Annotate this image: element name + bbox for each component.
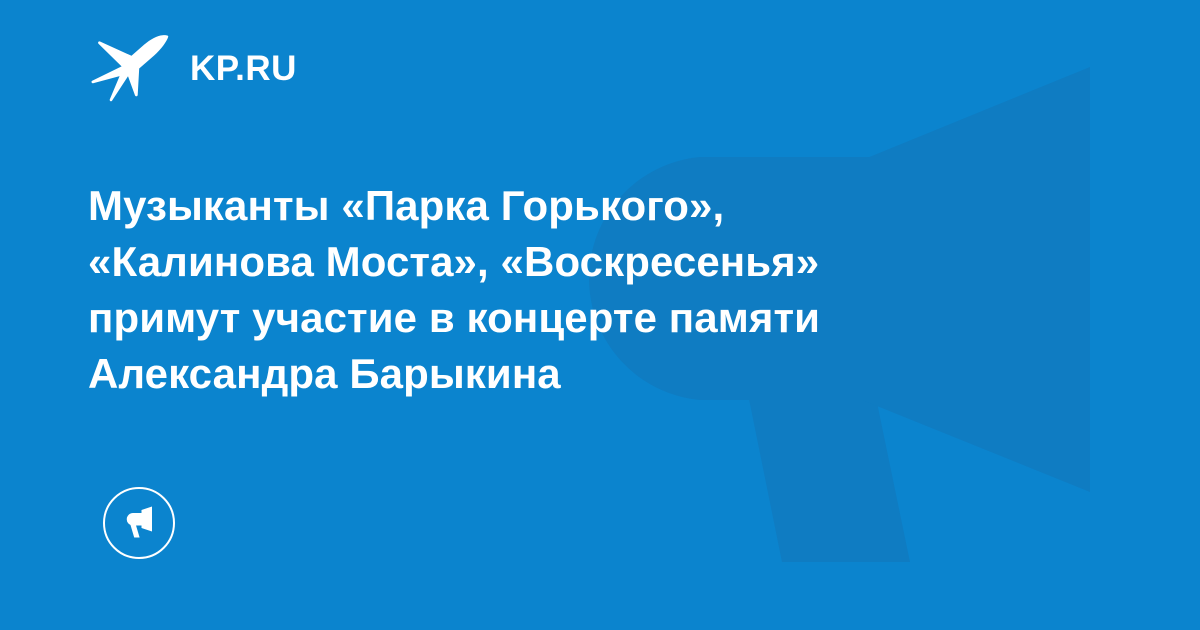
brand-logo[interactable]: KP.RU <box>88 32 297 104</box>
megaphone-icon <box>121 505 157 541</box>
social-share-card: KP.RU Музыканты «Парка Горького», «Калин… <box>0 0 1200 630</box>
headline-line-4: Александра Барыкина <box>88 346 988 402</box>
brand-name: KP.RU <box>190 51 297 86</box>
headline: Музыканты «Парка Горького», «Калинова Мо… <box>88 178 988 402</box>
megaphone-badge[interactable] <box>103 487 175 559</box>
headline-line-3: примут участие в концерте памяти <box>88 290 988 346</box>
headline-line-2: «Калинова Моста», «Воскресенья» <box>88 234 988 290</box>
headline-line-1: Музыканты «Парка Горького», <box>88 178 988 234</box>
swallow-bird-icon <box>88 32 172 104</box>
